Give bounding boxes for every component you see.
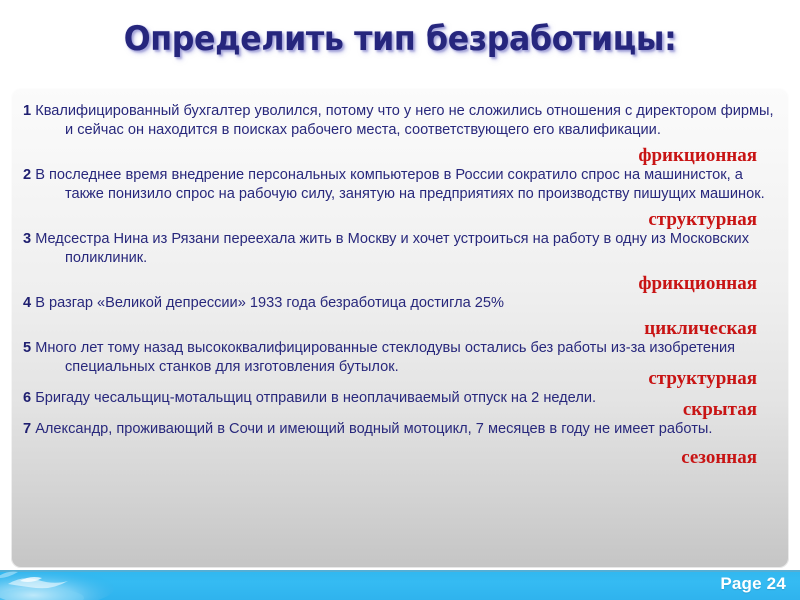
item-number: 7 — [23, 421, 31, 437]
answer-label: фрикционная — [21, 273, 779, 294]
footer-band: Page 24 — [0, 570, 800, 600]
list-item: 5 Много лет тому назад высококвалифициро… — [21, 339, 779, 377]
answer-label: сезонная — [21, 447, 779, 468]
content-panel: 1 Квалифицированный бухгалтер уволился, … — [11, 88, 789, 568]
page-number: Page 24 — [720, 572, 786, 596]
question-list: 1 Квалифицированный бухгалтер уволился, … — [11, 88, 789, 568]
item-number: 3 — [23, 231, 31, 247]
item-text: В последнее время внедрение персональных… — [35, 167, 764, 202]
item-text: Бригаду чесальщиц-мотальщиц отправили в … — [35, 390, 596, 406]
water-splash-icon — [0, 570, 165, 600]
list-item: 6 Бригаду чесальщиц-мотальщиц отправили … — [21, 389, 779, 408]
list-item: 3 Медсестра Нина из Рязани переехала жит… — [21, 230, 779, 268]
item-number: 6 — [23, 390, 31, 406]
item-number: 4 — [23, 295, 31, 311]
item-text: Много лет тому назад высококвалифицирова… — [35, 340, 735, 375]
item-text: Александр, проживающий в Сочи и имеющий … — [35, 421, 712, 437]
answer-label: фрикционная — [21, 145, 779, 166]
footer-divider — [0, 570, 800, 572]
title-area: Определить тип безработицы: — [0, 4, 800, 74]
list-item: 1 Квалифицированный бухгалтер уволился, … — [21, 102, 779, 140]
item-number: 2 — [23, 167, 31, 183]
item-text: Квалифицированный бухгалтер уволился, по… — [35, 103, 773, 138]
answer-label: структурная — [21, 209, 779, 230]
item-number: 1 — [23, 103, 31, 119]
slide: Определить тип безработицы: 1 Квалифицир… — [0, 0, 800, 600]
list-item: 4 В разгар «Великой депрессии» 1933 года… — [21, 294, 779, 313]
item-text: В разгар «Великой депрессии» 1933 года б… — [35, 295, 504, 311]
answer-label: циклическая — [21, 318, 779, 339]
list-item: 7 Александр, проживающий в Сочи и имеющи… — [21, 420, 779, 439]
page-title: Определить тип безработицы: — [124, 19, 677, 59]
item-text: Медсестра Нина из Рязани переехала жить … — [35, 231, 749, 266]
list-item: 2 В последнее время внедрение персональн… — [21, 166, 779, 204]
item-number: 5 — [23, 340, 31, 356]
